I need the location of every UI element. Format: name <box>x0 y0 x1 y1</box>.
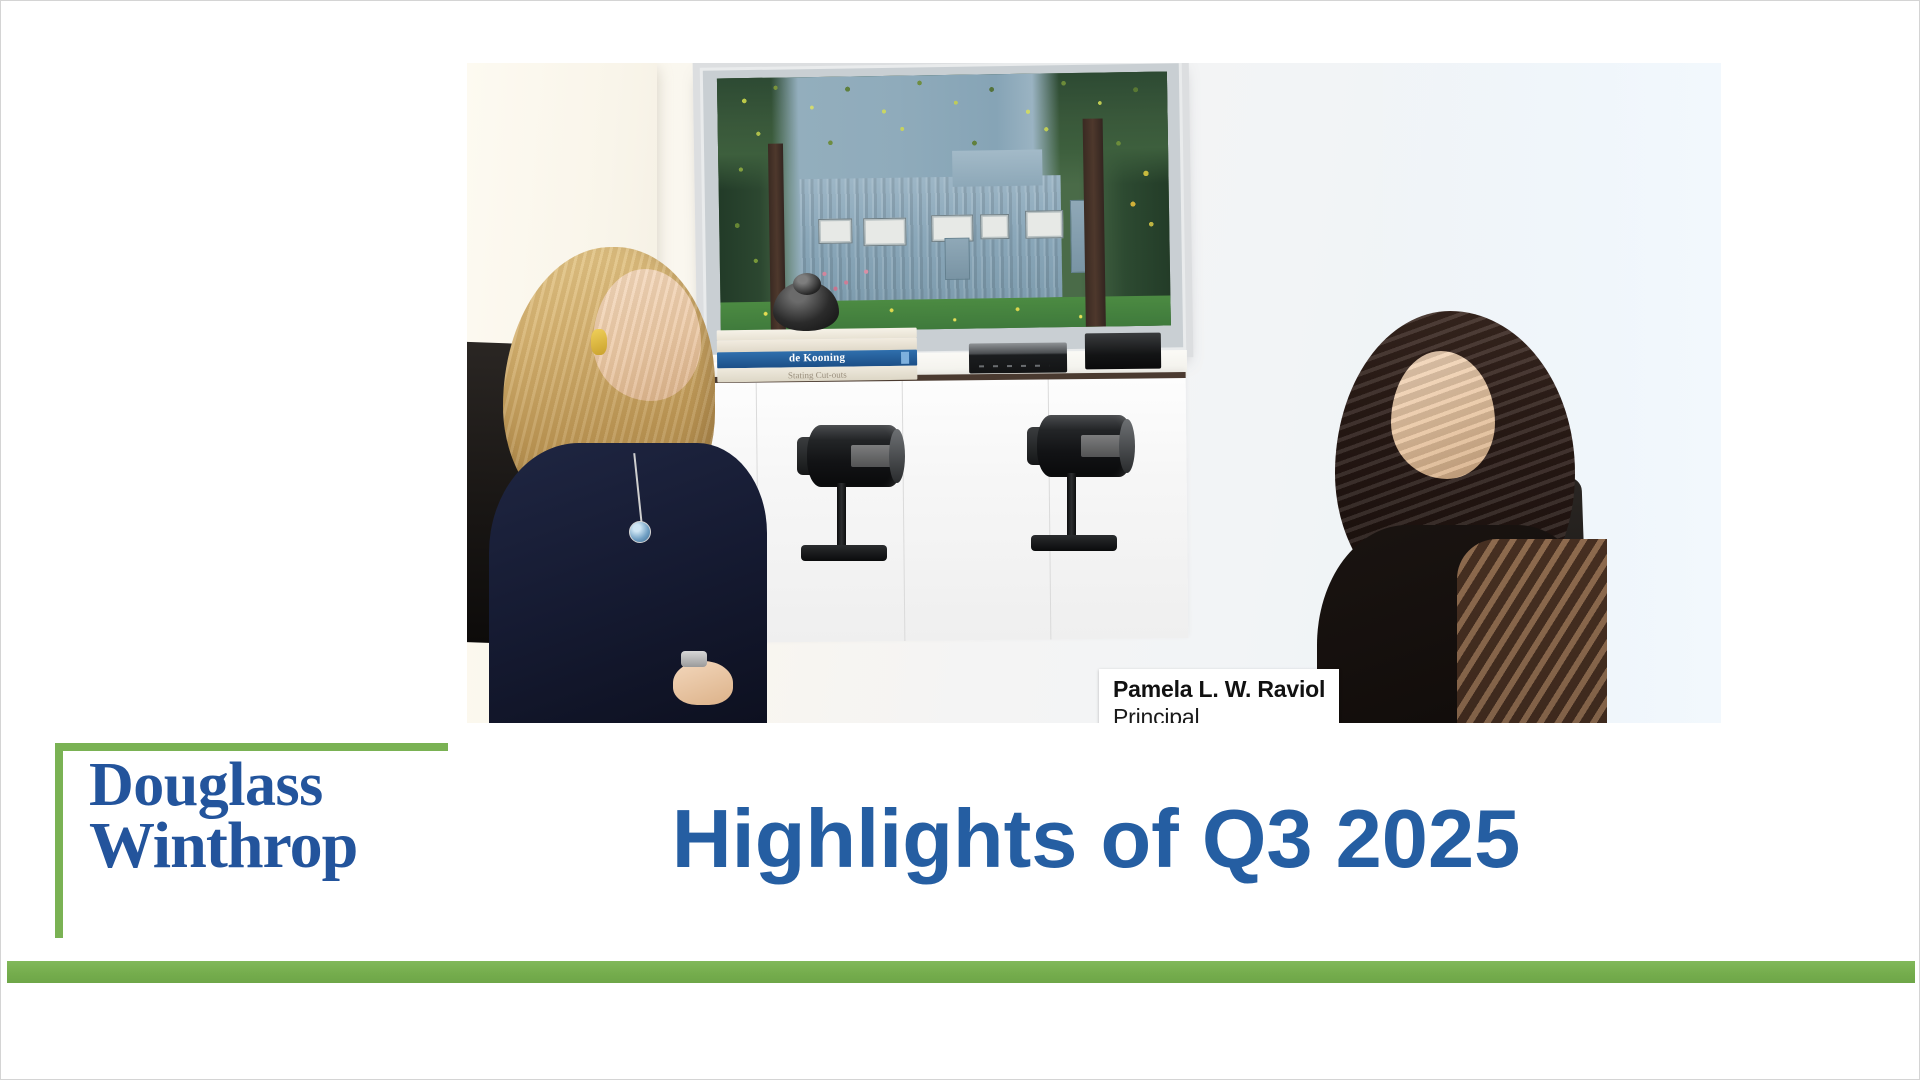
logo-bracket-top-rule <box>55 743 448 751</box>
mic-base <box>801 545 887 561</box>
mic-stand <box>837 483 846 553</box>
mic-brand-label <box>851 445 891 467</box>
hand <box>673 661 733 705</box>
speaker-name: Pamela L. W. Raviol <box>1113 677 1325 702</box>
video-still-panel[interactable]: de Kooning Stating Cut-outs <box>467 63 1721 723</box>
nameplate-pamela: Pamela L. W. Raviol Principal <box>1099 669 1339 723</box>
black-box-device <box>1085 333 1161 370</box>
cabinet-seam <box>902 381 906 641</box>
logo-line-2: Winthrop <box>89 815 357 876</box>
logo-wordmark: Douglass Winthrop <box>89 757 357 876</box>
footer-accent-bar <box>7 961 1915 983</box>
company-logo[interactable]: Douglass Winthrop <box>51 743 451 943</box>
wristwatch <box>681 651 707 667</box>
earring <box>591 329 607 355</box>
speaker-role: Principal <box>1113 704 1325 723</box>
presentation-slide: de Kooning Stating Cut-outs <box>0 0 1920 1080</box>
mic-end-cap <box>1119 419 1135 473</box>
necklace-pendant <box>629 521 651 543</box>
mic-end-cap <box>889 429 905 483</box>
mic-brand-label <box>1081 435 1121 457</box>
mic-base <box>1031 535 1117 551</box>
speaker-evelina-body <box>1307 203 1627 723</box>
mic-stand <box>1067 473 1076 543</box>
microphone-left <box>797 425 909 491</box>
page-title: Highlights of Q3 2025 <box>471 791 1721 887</box>
audio-interface-device <box>969 342 1067 373</box>
microphone-right <box>1027 415 1139 481</box>
logo-bracket-left-rule <box>55 743 63 938</box>
speaker-pamela <box>467 63 887 723</box>
fur-jacket <box>1457 539 1607 723</box>
